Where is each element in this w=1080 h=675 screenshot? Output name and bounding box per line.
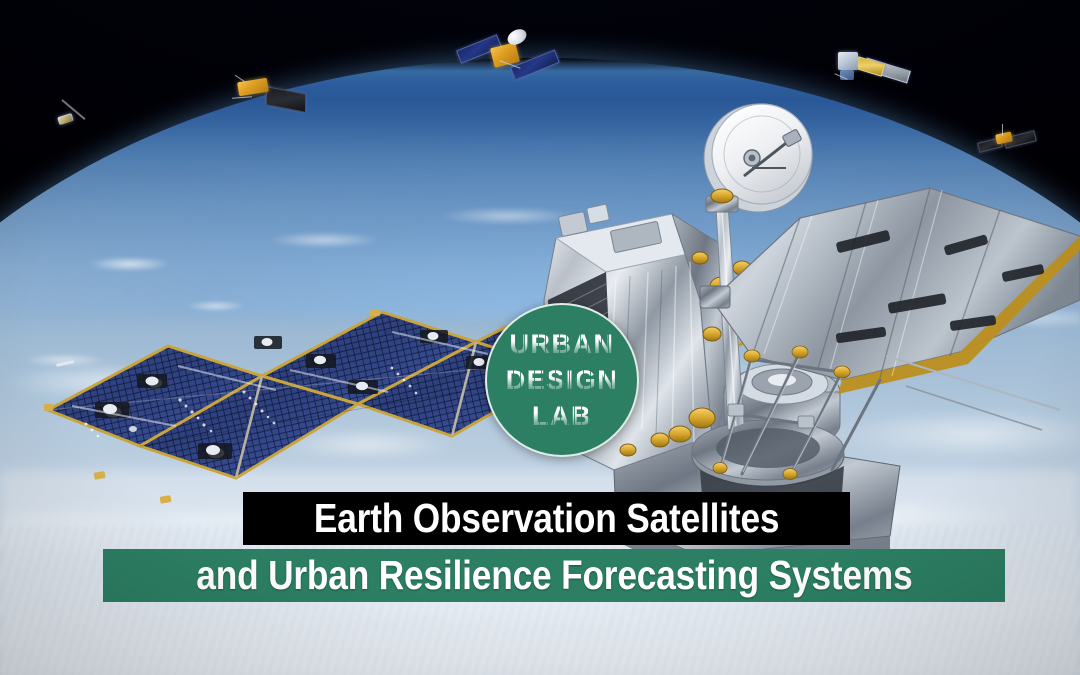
title-line-2-text: and Urban Resilience Forecasting Systems — [196, 555, 912, 596]
title-line-1-text: Earth Observation Satellites — [314, 498, 779, 539]
urban-design-lab-logo[interactable]: URBAN DESIGN LAB — [485, 303, 639, 457]
logo-word-lab: LAB — [532, 403, 592, 430]
logo-word-urban: URBAN — [510, 331, 615, 358]
title-bar-line-2: and Urban Resilience Forecasting Systems — [103, 549, 1005, 602]
title-bar-line-1: Earth Observation Satellites — [243, 492, 850, 545]
logo-word-design: DESIGN — [506, 367, 619, 394]
poster-canvas: URBAN DESIGN LAB Earth Observation Satel… — [0, 0, 1080, 675]
